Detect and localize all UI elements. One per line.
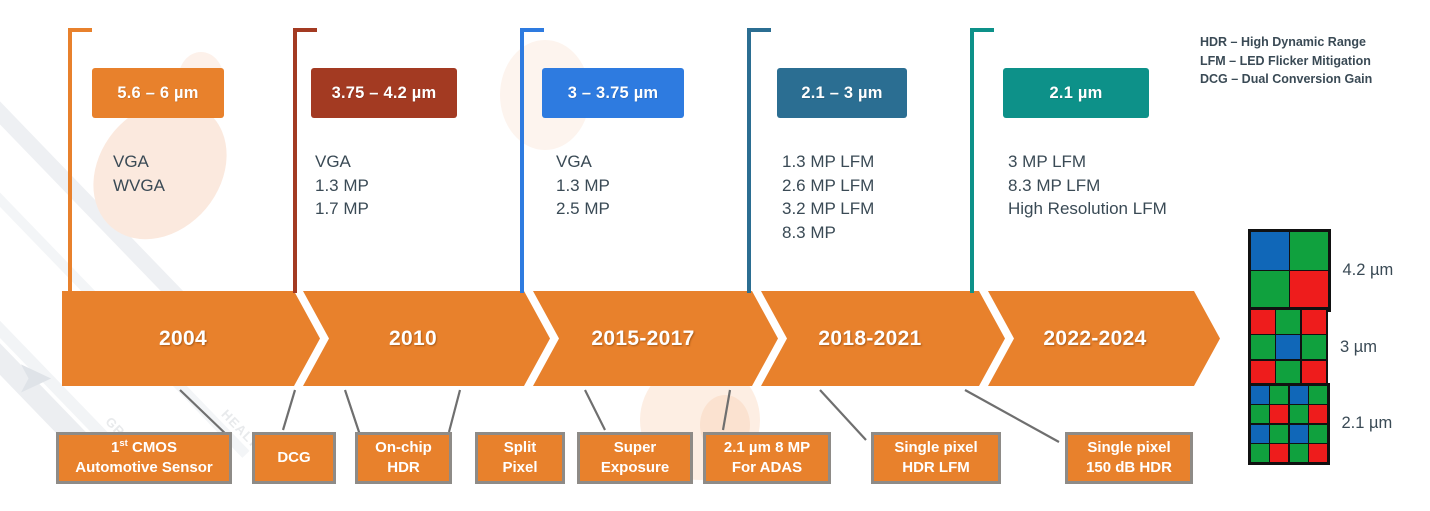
pixel-size-pill: 5.6 – 6 µm — [92, 68, 224, 118]
feature-box-line: For ADAS — [732, 458, 802, 478]
resolution-list: VGA1.3 MP2.5 MP — [556, 150, 610, 221]
bayer-grid — [1248, 229, 1331, 312]
banner-segment — [62, 291, 320, 386]
bayer-cell — [1270, 405, 1288, 423]
era-connector-vertical — [970, 28, 974, 293]
resolution-item: 1.7 MP — [315, 197, 369, 221]
resolution-item: VGA — [556, 150, 610, 174]
banner-segment — [761, 291, 1005, 386]
pixel-size-pill: 3 – 3.75 µm — [542, 68, 684, 118]
bayer-cell — [1251, 271, 1289, 309]
bayer-label: 2.1 µm — [1342, 414, 1393, 433]
resolution-item: VGA — [315, 150, 369, 174]
feature-box-line: Split — [504, 438, 537, 458]
bayer-cell — [1276, 335, 1300, 359]
bayer-cell — [1290, 425, 1308, 443]
resolution-item: 2.5 MP — [556, 197, 610, 221]
bayer-cell — [1276, 361, 1300, 385]
resolution-list: VGAWVGA — [113, 150, 165, 197]
feature-box[interactable]: Single pixel150 dB HDR — [1065, 432, 1193, 484]
era-connector-tick — [68, 28, 92, 32]
bayer-cell — [1302, 310, 1326, 334]
feature-box[interactable]: 2.1 µm 8 MPFor ADAS — [703, 432, 831, 484]
resolution-item: 2.6 MP LFM — [782, 174, 874, 198]
feature-box-line: 2.1 µm 8 MP — [724, 438, 810, 458]
pixel-size-pill: 2.1 – 3 µm — [777, 68, 907, 118]
bayer-cell — [1290, 271, 1328, 309]
abbreviation-legend: HDR – High Dynamic RangeLFM – LED Flicke… — [1200, 33, 1372, 89]
feature-box-line: DCG — [277, 448, 310, 468]
feature-box-line: Single pixel — [894, 438, 977, 458]
feature-box-line: 1st CMOS — [111, 438, 177, 458]
bayer-cell — [1251, 310, 1275, 334]
feature-box[interactable]: On-chipHDR — [355, 432, 452, 484]
bayer-cell — [1276, 310, 1300, 334]
feature-box-line: Automotive Sensor — [75, 458, 213, 478]
feature-box[interactable]: Single pixelHDR LFM — [871, 432, 1001, 484]
legend-line: HDR – High Dynamic Range — [1200, 33, 1372, 52]
bayer-cell — [1302, 361, 1326, 385]
feature-box[interactable]: SuperExposure — [577, 432, 693, 484]
bayer-cell — [1290, 444, 1308, 462]
feature-box-line: On-chip — [375, 438, 432, 458]
bayer-cell — [1251, 444, 1269, 462]
feature-box-line: 150 dB HDR — [1086, 458, 1172, 478]
bayer-pattern-row: 4.2 µm — [1248, 229, 1393, 312]
resolution-list: VGA1.3 MP1.7 MP — [315, 150, 369, 221]
era-connector-tick — [520, 28, 544, 32]
bayer-grid — [1248, 307, 1328, 387]
feature-box-line: HDR LFM — [902, 458, 970, 478]
era-connector-vertical — [293, 28, 297, 293]
bayer-cell — [1309, 405, 1327, 423]
bayer-pattern-row: 2.1 µm — [1248, 383, 1392, 465]
feature-box-line: Single pixel — [1087, 438, 1170, 458]
resolution-list: 1.3 MP LFM2.6 MP LFM3.2 MP LFM8.3 MP — [782, 150, 874, 244]
bayer-cell — [1309, 425, 1327, 443]
legend-line: LFM – LED Flicker Mitigation — [1200, 52, 1372, 71]
era-connector-tick — [747, 28, 771, 32]
feature-box-line: Exposure — [601, 458, 669, 478]
timeline-banner-arrow — [62, 291, 1220, 386]
bayer-cell — [1251, 335, 1275, 359]
pixel-size-pill: 3.75 – 4.2 µm — [311, 68, 457, 118]
feature-box-line: HDR — [387, 458, 420, 478]
bayer-pattern-row: 3 µm — [1248, 307, 1377, 387]
resolution-item: WVGA — [113, 174, 165, 198]
bayer-cell — [1251, 361, 1275, 385]
bayer-cell — [1251, 386, 1269, 404]
resolution-item: 3.2 MP LFM — [782, 197, 874, 221]
bayer-cell — [1270, 425, 1288, 443]
bayer-cell — [1290, 386, 1308, 404]
pixel-size-pill: 2.1 µm — [1003, 68, 1149, 118]
bayer-cell — [1290, 232, 1328, 270]
banner-segment — [988, 291, 1220, 386]
bayer-cell — [1251, 232, 1289, 270]
era-connector-tick — [970, 28, 994, 32]
feature-box-line: Super — [614, 438, 657, 458]
resolution-item: VGA — [113, 150, 165, 174]
bayer-cell — [1309, 386, 1327, 404]
banner-segment — [533, 291, 778, 386]
resolution-item: 8.3 MP — [782, 221, 874, 245]
bayer-cell — [1290, 405, 1308, 423]
feature-box[interactable]: DCG — [252, 432, 336, 484]
bayer-cell — [1251, 405, 1269, 423]
resolution-item: 1.3 MP — [315, 174, 369, 198]
resolution-item: 1.3 MP LFM — [782, 150, 874, 174]
feature-box[interactable]: 1st CMOSAutomotive Sensor — [56, 432, 232, 484]
legend-line: DCG – Dual Conversion Gain — [1200, 70, 1372, 89]
bayer-cell — [1251, 425, 1269, 443]
bayer-label: 4.2 µm — [1343, 261, 1394, 280]
resolution-item: High Resolution LFM — [1008, 197, 1167, 221]
bayer-cell — [1309, 444, 1327, 462]
timeline-infographic: ➤ GREEN HEALTH 5.6 – 6 µmVGAWVGA3.75 – 4… — [0, 0, 1430, 511]
resolution-item: 1.3 MP — [556, 174, 610, 198]
era-connector-vertical — [747, 28, 751, 293]
bayer-cell — [1302, 335, 1326, 359]
era-connector-vertical — [520, 28, 524, 293]
bayer-label: 3 µm — [1340, 338, 1377, 357]
era-connector-vertical — [68, 28, 72, 293]
bayer-cell — [1270, 386, 1288, 404]
era-connector-tick — [293, 28, 317, 32]
bayer-cell — [1270, 444, 1288, 462]
banner-segment — [303, 291, 550, 386]
feature-box-line: Pixel — [502, 458, 537, 478]
feature-box[interactable]: SplitPixel — [475, 432, 565, 484]
resolution-list: 3 MP LFM8.3 MP LFMHigh Resolution LFM — [1008, 150, 1167, 221]
bayer-grid — [1248, 383, 1330, 465]
resolution-item: 8.3 MP LFM — [1008, 174, 1167, 198]
resolution-item: 3 MP LFM — [1008, 150, 1167, 174]
